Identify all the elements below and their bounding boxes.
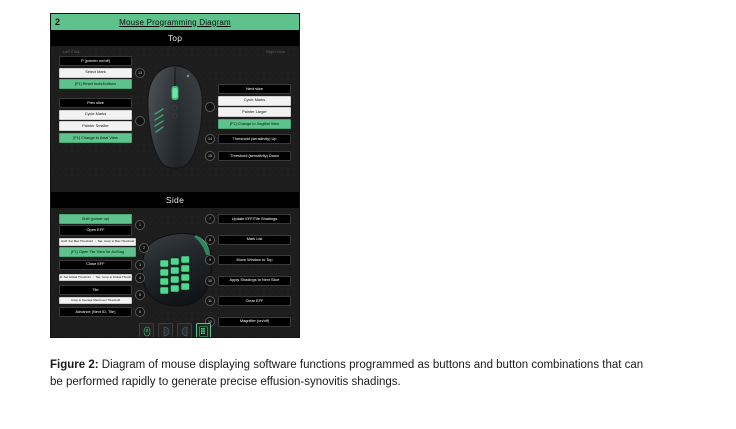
callout-label[interactable]: [F1] Change to Sagittal View (218, 119, 291, 129)
callout-number: 1 (135, 220, 145, 230)
callout-label-split-right: Tap: Jump to Global Threshold (96, 276, 132, 279)
callout-label[interactable]: Clear EFF (218, 296, 291, 306)
callout-label-split[interactable]: Hold: Set Global Threshold / Tap: Jump t… (59, 274, 132, 282)
view-icon-1[interactable] (139, 323, 154, 338)
callout-label-split-right: Tap: Jump to Max Threshold (98, 240, 134, 243)
callout-label[interactable]: Tile (59, 285, 132, 295)
callout-split-separator: / (95, 240, 96, 243)
figure-caption: Figure 2: Diagram of mouse displaying so… (50, 357, 650, 390)
view-icon-2[interactable] (158, 323, 173, 338)
side-view-panel: Shift (power up) Open EFF 1 Hold: Set Ma… (51, 208, 299, 338)
callout-number: 6 (135, 307, 145, 317)
callout-number (135, 116, 145, 126)
callout-split-separator: / (93, 276, 94, 279)
view-icon-4[interactable] (196, 323, 211, 338)
callout-label[interactable]: Painter Smaller (59, 121, 132, 131)
figure-title: Mouse Programming Diagram (51, 18, 299, 27)
callout-label[interactable]: [F1] Open Tile View for Ax/Sag (59, 247, 136, 257)
callout-label[interactable]: Mark List (218, 235, 291, 245)
mouse-top-illustration (144, 64, 206, 172)
callout-label[interactable]: [F1] Change to Axial View (59, 133, 132, 143)
view-icon-3[interactable] (177, 323, 192, 338)
callout-number: 10 (205, 276, 215, 286)
callout-label[interactable]: [F1] Reset tools/buttons (59, 79, 132, 89)
right-click-hint: Right click (266, 50, 285, 54)
callout-label[interactable]: Cycle Marks (59, 110, 132, 120)
callout-number: 4 (135, 273, 145, 283)
callout-label[interactable]: Threshold (sensitivity) Up (218, 134, 291, 144)
callout-label[interactable]: Prev slice (59, 98, 132, 108)
callout-number (205, 102, 215, 112)
figure-caption-label: Figure 2: (50, 359, 99, 371)
callout-number: 5 (135, 290, 145, 300)
left-click-hint: Left Click (63, 50, 80, 54)
figure-header: 2 Mouse Programming Diagram (51, 14, 299, 30)
document-page: 2 Mouse Programming Diagram Top Left Cli… (0, 0, 736, 429)
section-heading-top: Top (51, 30, 299, 46)
callout-number: 2 (139, 243, 149, 253)
callout-number: 3 (135, 260, 145, 270)
top-view-panel: Left Click Right click (51, 46, 299, 192)
callout-label[interactable]: Select Mark (59, 68, 132, 78)
callout-label-split-left: Hold: Set Global Threshold (59, 276, 91, 279)
callout-label[interactable]: Move Window to Top (218, 255, 291, 265)
figure-panel: 2 Mouse Programming Diagram Top Left Cli… (50, 13, 300, 338)
callout-label[interactable]: Jump to Average Max/Level Threshold (59, 297, 132, 305)
callout-number: 15 (205, 151, 215, 161)
callout-label[interactable]: Close EFF (59, 260, 132, 270)
callout-number: 7 (205, 214, 215, 224)
callout-label[interactable]: Shift (power up) (59, 214, 132, 224)
callout-label-split-left: Hold: Set Max Threshold (61, 240, 93, 243)
callout-label-split[interactable]: Hold: Set Max Threshold / Tap: Jump to M… (59, 238, 136, 246)
callout-label[interactable]: Next slice (218, 84, 291, 94)
callout-label[interactable]: Painter Larger (218, 107, 291, 117)
callout-number: 8 (205, 235, 215, 245)
callout-label[interactable]: Threshold (sensitivity) Down (218, 151, 291, 161)
section-heading-side: Side (51, 192, 299, 208)
callout-label[interactable]: Advance (Next ID, Tile) (59, 307, 132, 317)
callout-label[interactable]: Apply Shadings to Next Slice (218, 276, 291, 286)
view-icon-strip (51, 323, 299, 338)
callout-number: 14 (205, 134, 215, 144)
callout-label[interactable]: Cycle Marks (218, 96, 291, 106)
callout-label[interactable]: P (pointer on/off) (59, 56, 132, 66)
callout-number: 9 (205, 255, 215, 265)
figure-caption-text: Diagram of mouse displaying software fun… (50, 359, 643, 388)
callout-number: 13 (135, 68, 145, 78)
callout-label[interactable]: Open EFF (59, 225, 132, 235)
callout-label[interactable]: Update EFF/Tile Shadings (218, 214, 291, 224)
callout-number: 11 (205, 296, 215, 306)
